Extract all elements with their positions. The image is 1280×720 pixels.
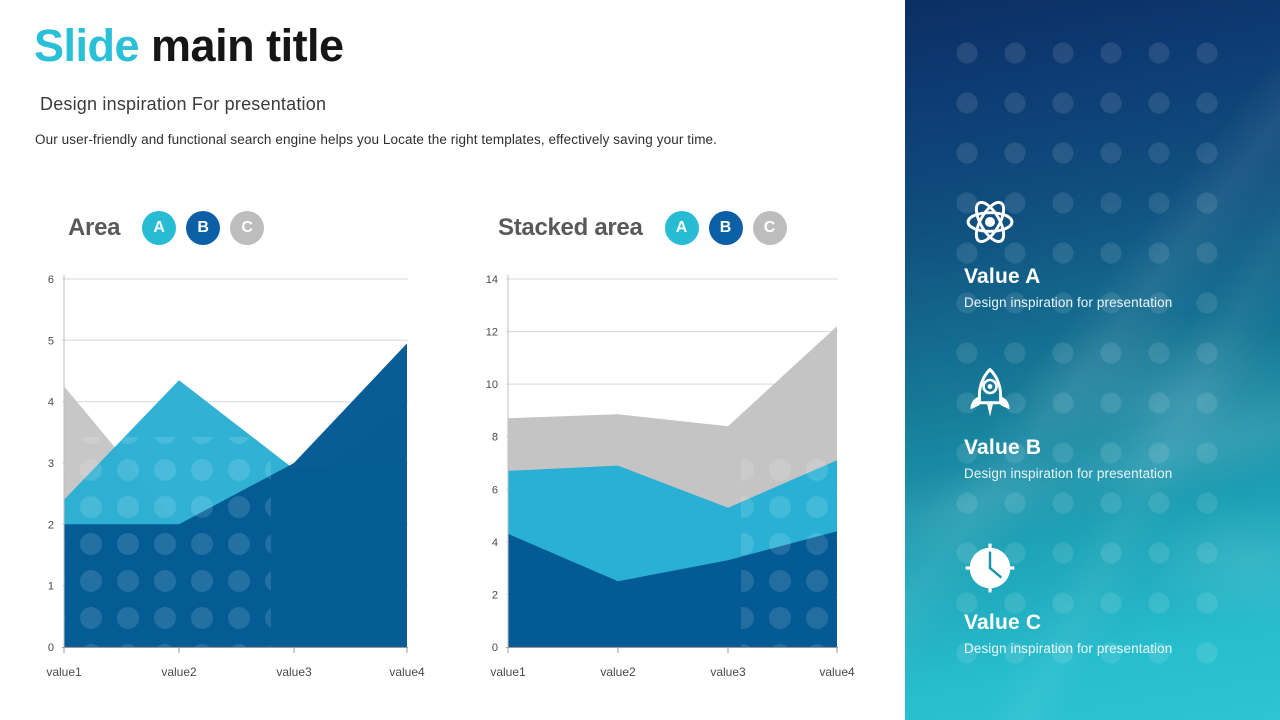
legend-b-label: B <box>720 219 732 237</box>
legend-c-label: C <box>764 219 776 237</box>
chart-stacked-yticks: 14 12 10 8 6 4 2 0 <box>486 274 498 654</box>
svg-text:6: 6 <box>48 274 54 286</box>
chart-stacked-area: Stacked area A B C <box>466 205 886 687</box>
value-list: Value A Design inspiration for presentat… <box>905 0 1280 720</box>
chart-area: Area A B C <box>36 205 456 687</box>
clock-icon <box>964 542 1016 594</box>
chart-stacked-xlabel-1: value2 <box>600 665 635 679</box>
value-b-desc: Design inspiration for presentation <box>964 466 1264 481</box>
chart-area-xlabel-3: value4 <box>389 665 424 679</box>
svg-text:14: 14 <box>486 274 498 286</box>
value-item-c[interactable]: Value C Design inspiration for presentat… <box>964 542 1264 656</box>
chart-stacked-legend: A B C <box>665 211 787 245</box>
atom-icon <box>964 196 1016 248</box>
svg-text:8: 8 <box>492 432 498 444</box>
side-panel: Value A Design inspiration for presentat… <box>905 0 1280 720</box>
svg-text:3: 3 <box>48 458 54 470</box>
rocket-icon <box>964 367 1016 419</box>
svg-text:4: 4 <box>492 537 498 549</box>
value-item-a[interactable]: Value A Design inspiration for presentat… <box>964 196 1264 310</box>
value-a-desc: Design inspiration for presentation <box>964 295 1264 310</box>
svg-text:0: 0 <box>48 642 54 654</box>
legend-b-label: B <box>197 219 209 237</box>
chart-stacked-plot: 14 12 10 8 6 4 2 0 <box>466 267 886 687</box>
chart-area-legend: A B C <box>142 211 264 245</box>
chart-stacked-xlabel-2: value3 <box>710 665 745 679</box>
legend-c-label: C <box>241 219 253 237</box>
chart-area-yticks: 6 5 4 3 2 1 0 <box>48 274 54 654</box>
chart-area-header: Area A B C <box>36 205 456 251</box>
svg-text:2: 2 <box>492 589 498 601</box>
chart-area-xlabels: value1 value2 value3 value4 <box>36 665 456 687</box>
value-a-name: Value A <box>964 265 1264 289</box>
svg-text:12: 12 <box>486 327 498 339</box>
svg-text:2: 2 <box>48 519 54 531</box>
page-subtitle: Design inspiration For presentation <box>40 94 326 115</box>
chart-stacked-xlabel-0: value1 <box>490 665 525 679</box>
slide-content-area: Slide main title Design inspiration For … <box>0 0 905 720</box>
chart-area-svg: 6 5 4 3 2 1 0 <box>36 267 456 662</box>
page-description: Our user-friendly and functional search … <box>35 132 717 147</box>
value-item-b[interactable]: Value B Design inspiration for presentat… <box>964 367 1264 481</box>
title-rest: main title <box>139 20 344 71</box>
chart-stacked-svg: 14 12 10 8 6 4 2 0 <box>466 267 886 662</box>
legend-a[interactable]: A <box>142 211 176 245</box>
value-c-desc: Design inspiration for presentation <box>964 641 1264 656</box>
legend-a-label: A <box>676 219 688 237</box>
legend-b[interactable]: B <box>709 211 743 245</box>
chart-area-xlabel-0: value1 <box>46 665 81 679</box>
chart-stacked-title: Stacked area <box>498 214 643 242</box>
chart-area-dot-overlay <box>64 437 271 647</box>
title-accent-word: Slide <box>34 20 139 71</box>
chart-area-xlabel-1: value2 <box>161 665 196 679</box>
svg-text:10: 10 <box>486 379 498 391</box>
chart-stacked-header: Stacked area A B C <box>466 205 886 251</box>
value-b-name: Value B <box>964 436 1264 460</box>
svg-text:4: 4 <box>48 397 54 409</box>
legend-a-label: A <box>153 219 165 237</box>
legend-a[interactable]: A <box>665 211 699 245</box>
chart-stacked-dot-overlay <box>741 452 838 647</box>
value-c-name: Value C <box>964 611 1264 635</box>
chart-stacked-xlabel-3: value4 <box>819 665 854 679</box>
svg-text:6: 6 <box>492 484 498 496</box>
svg-text:5: 5 <box>48 335 54 347</box>
svg-text:0: 0 <box>492 642 498 654</box>
chart-stacked-xlabels: value1 value2 value3 value4 <box>466 665 886 687</box>
legend-c[interactable]: C <box>230 211 264 245</box>
chart-area-xlabel-2: value3 <box>276 665 311 679</box>
chart-area-plot: 6 5 4 3 2 1 0 <box>36 267 456 687</box>
svg-text:1: 1 <box>48 581 54 593</box>
page-title: Slide main title <box>34 22 344 69</box>
legend-b[interactable]: B <box>186 211 220 245</box>
legend-c[interactable]: C <box>753 211 787 245</box>
chart-area-title: Area <box>68 214 120 242</box>
